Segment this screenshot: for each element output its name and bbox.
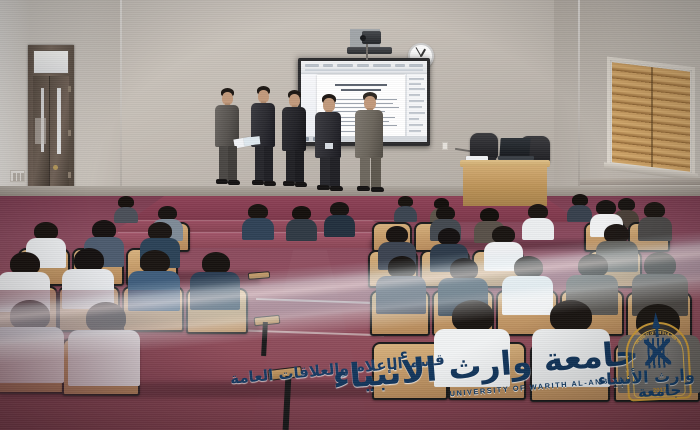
screenshot-root: قسم الإعلام والعلاقات العامة جامعة وارث … [0, 0, 700, 430]
laptop-screen[interactable] [499, 138, 530, 157]
presenter-1-leg-right [228, 146, 237, 181]
presenter-2-papers [244, 136, 261, 146]
presenter-3-leg-right [295, 150, 304, 183]
presenter-2-shoe-left [252, 180, 264, 185]
presenter-1-shoe-right [228, 180, 240, 185]
presenter-5-shoe-left [357, 186, 370, 191]
presenter-5-leg-left [360, 157, 370, 188]
presenter-1-leg-left [219, 146, 228, 181]
student-a4-torso [567, 205, 592, 222]
wall-outlet [442, 142, 448, 150]
soundbar [347, 47, 392, 54]
presenter-3-leg-left [286, 150, 295, 183]
door-glass-right [57, 88, 61, 154]
door-hinge-mid [68, 130, 71, 136]
presenter-2-leg-right [264, 146, 273, 182]
window-with-blinds [607, 57, 695, 178]
projector-cable [366, 44, 368, 60]
university-emblem-icon: UNIVERSITY OF WARITH AL-ANBIYAA وارث الأ… [620, 310, 697, 410]
presenter-3-shoe-left [283, 181, 295, 186]
emblem-year: 2017 [650, 387, 668, 394]
presenter-4-leg-left [320, 157, 330, 187]
presenter-2-shoe-right [264, 181, 276, 186]
student-a2-torso [394, 206, 417, 222]
desk-front-panel [463, 166, 547, 206]
emblem-knot-icon [644, 338, 671, 365]
window-blinds[interactable] [612, 62, 690, 172]
presenter-2-leg-left [255, 146, 264, 182]
door-hinge-bottom [68, 172, 71, 178]
door-transom-window [33, 50, 69, 74]
door-hinge-top [68, 86, 71, 92]
presenter-5-shoe-right [371, 187, 384, 192]
presenter-5-suit-jacket [355, 110, 383, 158]
document-side-panel [406, 74, 427, 142]
door-push-plate [35, 118, 46, 144]
presenter-3-suit-jacket [282, 107, 306, 151]
presenter-4-shoe-left [317, 185, 330, 190]
presenter-4-shoe-right [330, 186, 343, 191]
presenter-5-leg-right [371, 157, 381, 188]
presenter-4-leg-right [330, 157, 340, 187]
presenter-4-phone-icon [325, 143, 333, 149]
emblem-spire-stem [655, 325, 659, 337]
presenter-4-suit-jacket [315, 112, 341, 158]
light-switch[interactable] [10, 170, 25, 182]
presenter-3-shoe-right [295, 182, 307, 187]
blinds-center-split [651, 67, 653, 167]
student-a1-torso [114, 207, 138, 223]
projector-lens-icon [360, 35, 366, 41]
document-ribbon-toolbar [301, 61, 427, 74]
presenter-1-shoe-left [216, 179, 228, 184]
door-lock-icon[interactable] [53, 165, 58, 170]
skirting-right [580, 178, 700, 185]
